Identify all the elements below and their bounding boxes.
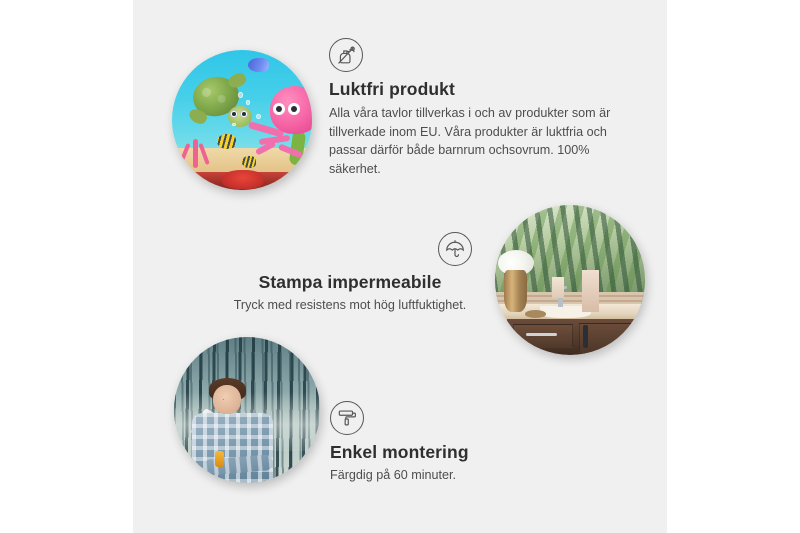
striped-fish <box>217 134 237 149</box>
paint-roller-icon <box>330 401 364 435</box>
candle <box>552 277 564 298</box>
face <box>213 385 241 414</box>
no-fragrance-spray-icon <box>329 38 363 72</box>
crab-figure <box>222 170 264 188</box>
soap-dish <box>525 310 546 318</box>
bathroom-scene <box>495 205 645 355</box>
striped-fish-small <box>242 156 256 167</box>
underwater-scene <box>172 50 312 190</box>
infographic-canvas: Luktfri produkt Alla våra tavlor tillver… <box>0 0 800 533</box>
rolled-towel <box>582 270 599 312</box>
paint-roller-grip <box>215 451 224 467</box>
feature-title: Enkel montering <box>330 442 610 463</box>
woman-paint-roller-forest-photo <box>174 337 320 483</box>
feature-description: Tryck med resistens mot hög luftfuktighe… <box>205 296 495 315</box>
feature-description: Alla våra tavlor tillverkas i och av pro… <box>329 104 624 179</box>
octopus-head <box>270 86 312 134</box>
painter-forest-scene <box>174 337 320 483</box>
feature-title: Luktfri produkt <box>329 79 624 100</box>
feature-block-waterproof-print: Stampa impermeabile Tryck med resistens … <box>205 232 495 315</box>
feature-block-easy-mounting: Enkel montering Färgdig på 60 minuter. <box>330 401 610 485</box>
feature-block-odour-free: Luktfri produkt Alla våra tavlor tillver… <box>329 38 624 179</box>
umbrella-icon <box>438 232 472 266</box>
bubble <box>246 100 250 104</box>
underwater-kids-mural-photo <box>172 50 312 190</box>
feature-title: Stampa impermeabile <box>205 272 495 293</box>
bubble <box>238 92 244 98</box>
coral-cluster <box>178 134 214 168</box>
bathroom-leaf-wallpaper-photo <box>495 205 645 355</box>
blue-fish <box>248 58 269 72</box>
bubble <box>256 114 261 119</box>
wooden-vanity <box>507 319 645 355</box>
gold-vase <box>504 270 527 312</box>
feature-description: Färgdig på 60 minuter. <box>330 466 610 485</box>
